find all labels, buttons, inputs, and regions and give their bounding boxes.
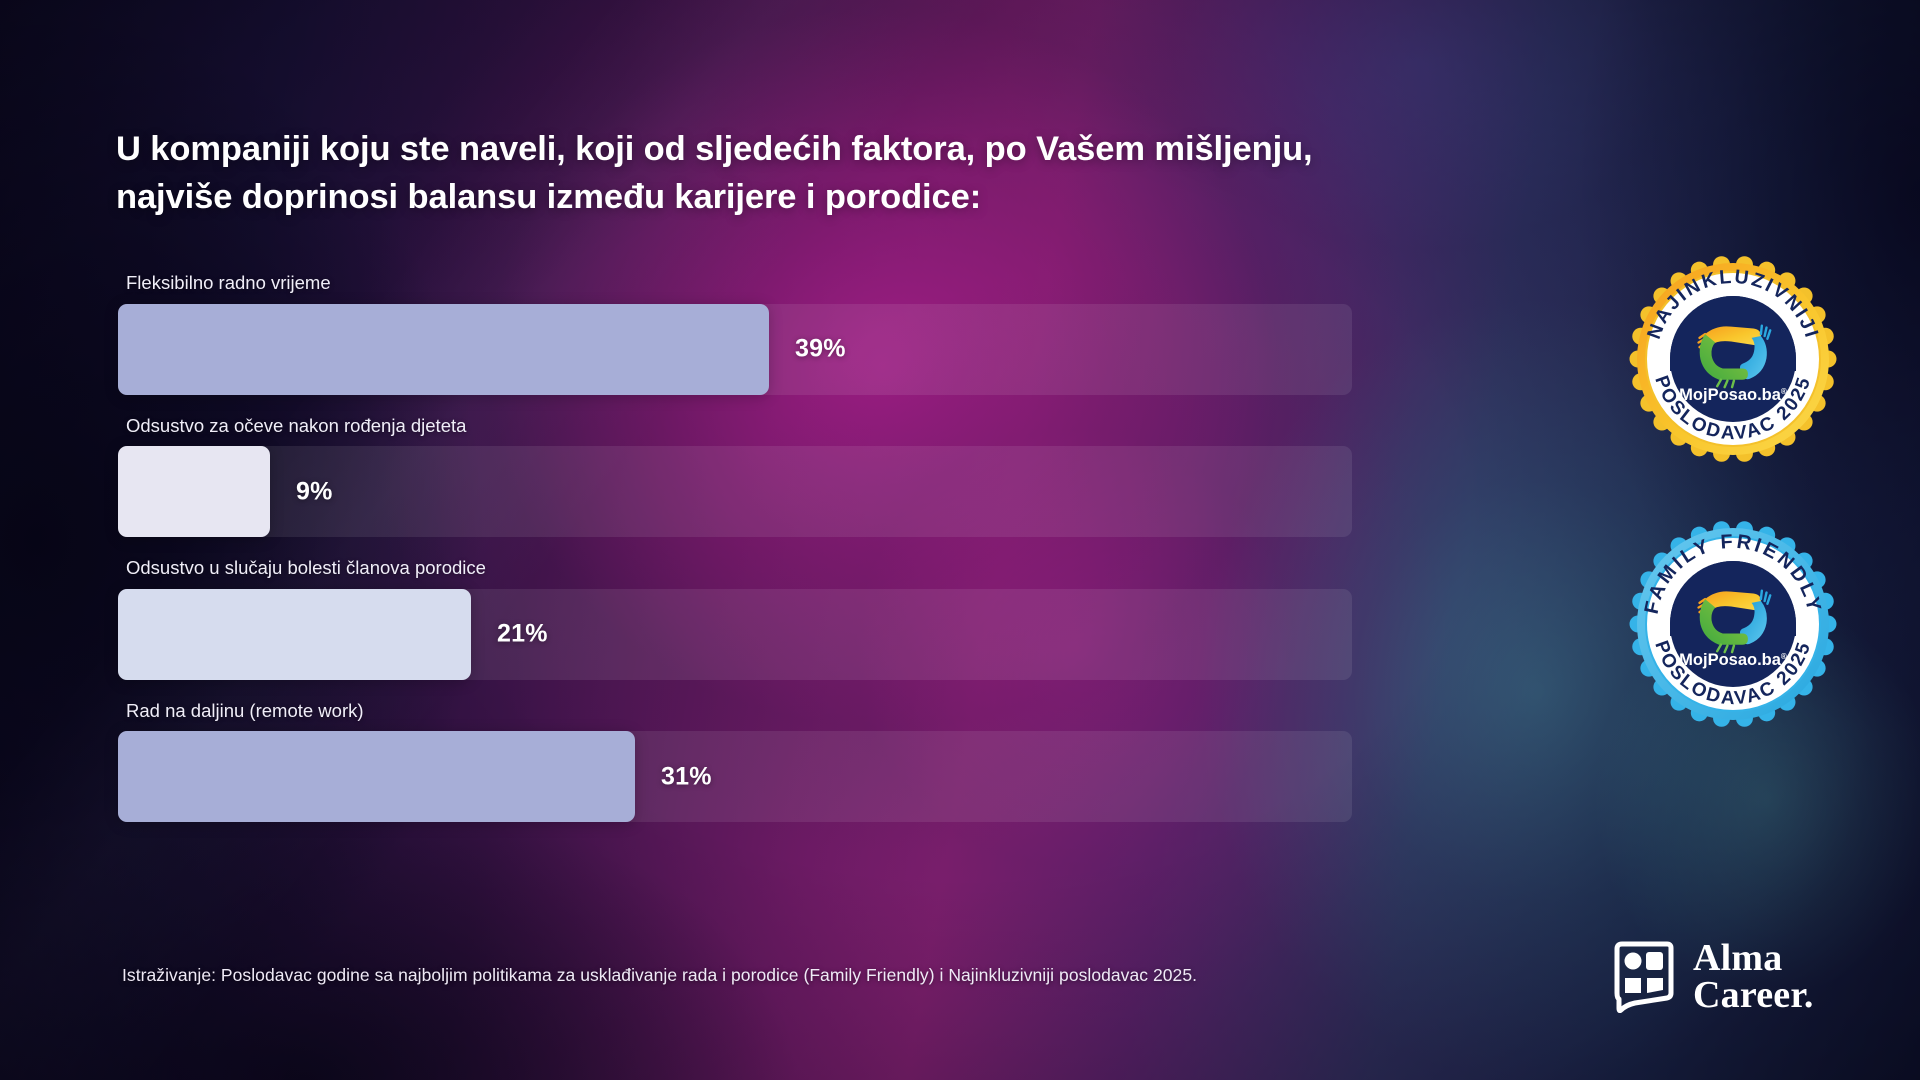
- bar-value-label: 31%: [661, 762, 712, 791]
- bar-group: Fleksibilno radno vrijeme39%: [118, 274, 1352, 395]
- alma-career-line-2: Career.: [1693, 977, 1814, 1014]
- badge-family-friendly-poslodavac-2025: FAMILY FRIENDLY POSLODAVAC 2025 MojPosao…: [1627, 518, 1839, 730]
- bar-category-label: Odsustvo za očeve nakon rođenja djeteta: [126, 417, 1352, 436]
- bar-group: Odsustvo u slučaju bolesti članova porod…: [118, 559, 1352, 680]
- alma-career-line-1: Alma: [1693, 940, 1814, 977]
- bar-track: 39%: [118, 304, 1352, 395]
- bar-category-label: Odsustvo u slučaju bolesti članova porod…: [126, 559, 1352, 578]
- bar-track: 21%: [118, 589, 1352, 680]
- bar-category-label: Fleksibilno radno vrijeme: [126, 274, 1352, 293]
- footnote-source: Istraživanje: Poslodavac godine sa najbo…: [122, 965, 1197, 986]
- content-layer: U kompaniji koju ste naveli, koji od slj…: [0, 0, 1920, 1080]
- bar-category-label: Rad na daljinu (remote work): [126, 702, 1352, 721]
- bar-value-label: 9%: [296, 477, 333, 506]
- infographic-canvas: U kompaniji koju ste naveli, koji od slj…: [0, 0, 1920, 1080]
- alma-career-mark-icon: [1613, 941, 1676, 1013]
- badge-najinkluzivniji-poslodavac-2025: NAJINKLUZIVNIJI POSLODAVAC 2025 MojPosao…: [1627, 253, 1839, 465]
- bar-fill: [118, 446, 270, 537]
- bar-chart: Fleksibilno radno vrijeme39%Odsustvo za …: [118, 274, 1352, 822]
- bar-track: 9%: [118, 446, 1352, 537]
- bar-fill: [118, 731, 635, 822]
- bar-fill: [118, 304, 769, 395]
- bar-fill: [118, 589, 471, 680]
- badge-brand-text: MojPosao.ba®: [1679, 651, 1787, 669]
- bar-value-label: 39%: [795, 335, 846, 364]
- bar-group: Rad na daljinu (remote work)31%: [118, 702, 1352, 823]
- alma-career-wordmark: Alma Career.: [1693, 940, 1814, 1014]
- bar-group: Odsustvo za očeve nakon rođenja djeteta9…: [118, 417, 1352, 538]
- badge-brand-text: MojPosao.ba®: [1679, 386, 1787, 404]
- alma-career-logo: Alma Career.: [1613, 940, 1814, 1014]
- bar-value-label: 21%: [497, 620, 548, 649]
- bar-track: 31%: [118, 731, 1352, 822]
- page-title: U kompaniji koju ste naveli, koji od slj…: [116, 126, 1376, 221]
